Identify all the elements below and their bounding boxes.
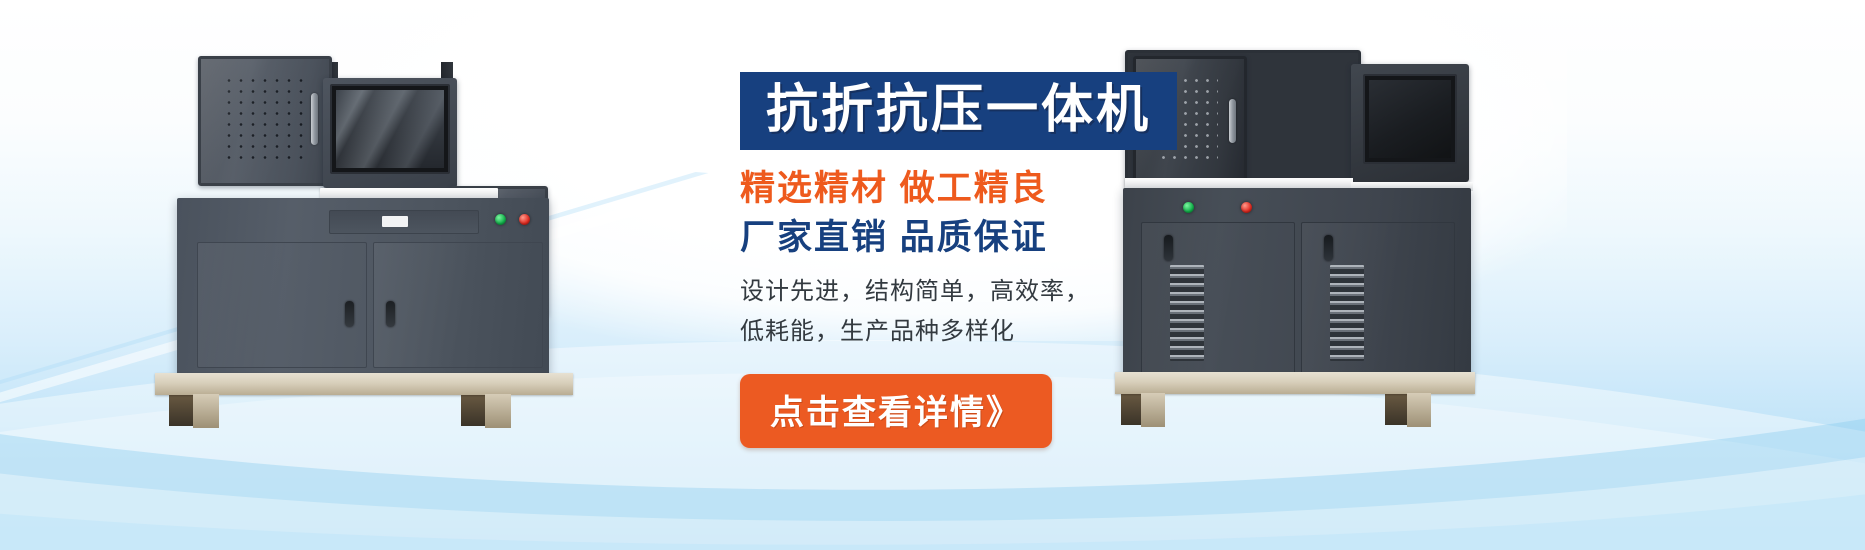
- pallet-deck: [155, 373, 573, 395]
- pallet-leg: [485, 394, 511, 428]
- door-latch-icon: [345, 301, 354, 327]
- door-handle-icon: [311, 93, 318, 145]
- cabinet-door-left: [197, 242, 367, 368]
- display-glass: [336, 90, 444, 168]
- pallet-leg: [193, 394, 219, 428]
- display-bezel: [1363, 74, 1457, 164]
- display-bezel: [330, 84, 450, 174]
- description-line-1: 设计先进，结构简单，高效率，: [740, 273, 1280, 312]
- wooden-shipping-pallet: [155, 373, 573, 429]
- control-panel-label: [382, 216, 408, 227]
- cabinet-door-right: [373, 242, 543, 368]
- banner-copy-block: 抗折抗压一体机 精选精材 做工精良 厂家直销 品质保证 设计先进，结构简单，高效…: [740, 72, 1280, 448]
- product-image-left-machine: [165, 48, 575, 428]
- pallet-shadow: [1385, 393, 1407, 425]
- pallet-shadow: [461, 394, 487, 426]
- stop-indicator-lamp-icon: [519, 214, 530, 225]
- headline-orange: 精选精材 做工精良: [740, 168, 1280, 209]
- control-display-window: [1351, 64, 1469, 182]
- view-details-button[interactable]: 点击查看详情》: [740, 374, 1052, 448]
- machine-cabinet-body: [177, 198, 549, 376]
- pallet-leg: [1407, 393, 1431, 427]
- door-latch-icon: [386, 301, 395, 327]
- description-line-2: 低耗能，生产品种多样化: [740, 313, 1280, 352]
- display-glass: [1369, 80, 1451, 158]
- banner-title: 抗折抗压一体机: [740, 72, 1177, 150]
- cabinet-door-right: [1301, 222, 1455, 376]
- perforated-panel-door-left: [198, 56, 332, 186]
- control-panel-slot: [329, 210, 479, 234]
- control-display-window: [323, 78, 457, 188]
- louvered-vent-icon: [1330, 265, 1364, 361]
- power-indicator-lamp-icon: [495, 214, 506, 225]
- headline-blue: 厂家直销 品质保证: [740, 217, 1280, 258]
- promo-banner: 抗折抗压一体机 精选精材 做工精良 厂家直销 品质保证 设计先进，结构简单，高效…: [0, 0, 1865, 550]
- door-latch-icon: [1324, 235, 1333, 261]
- panel-sheen: [201, 59, 329, 183]
- pallet-shadow: [169, 394, 195, 426]
